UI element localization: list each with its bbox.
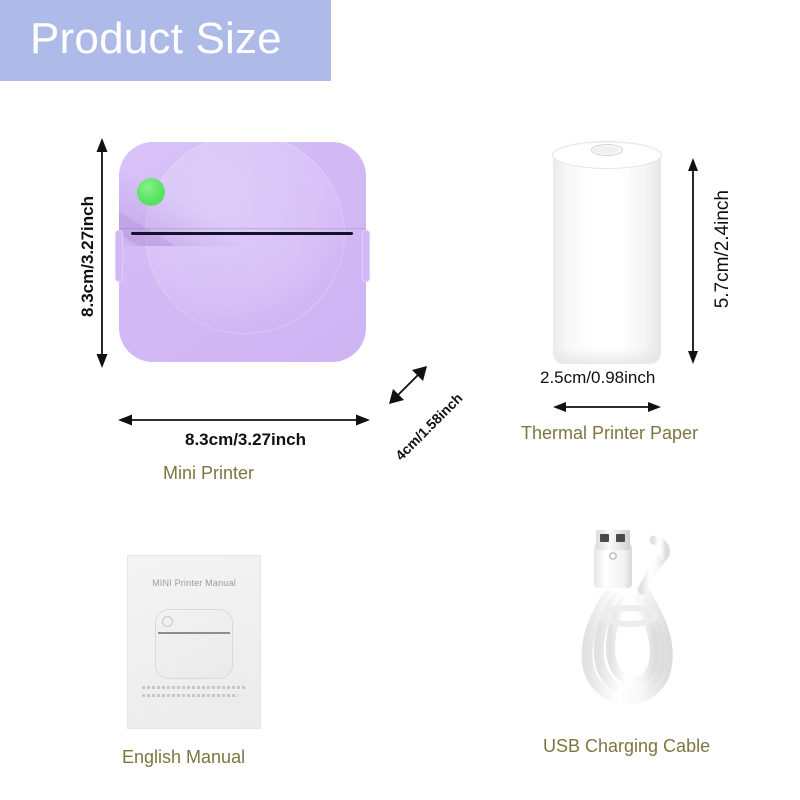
usb-cable-illustration — [556, 526, 706, 716]
printer-width-label: 8.3cm/3.27inch — [185, 430, 306, 450]
manual-text-line — [142, 694, 238, 697]
usb-contact-left — [600, 534, 609, 542]
usb-cable-drawing — [556, 526, 706, 716]
printer-height-label: 8.3cm/3.27inch — [78, 196, 98, 317]
printer-side-tab-left — [115, 230, 123, 282]
manual-printer-button-icon — [163, 617, 172, 626]
paper-roll-body — [553, 154, 661, 362]
usb-contact-right — [616, 534, 625, 542]
caption-english-manual: English Manual — [122, 747, 245, 768]
printer-width-arrow — [118, 410, 370, 430]
caption-thermal-printer-paper: Thermal Printer Paper — [521, 423, 698, 444]
usb-plug-housing — [594, 544, 632, 588]
page-title: Product Size — [30, 6, 282, 72]
paper-roll-bottom-shadow — [553, 348, 661, 364]
mini-printer-illustration — [119, 142, 366, 362]
manual-cover-title: MINI Printer Manual — [128, 578, 260, 588]
printer-power-button — [137, 178, 165, 206]
header-banner: Product Size — [0, 0, 331, 81]
printer-side-tab-right — [362, 230, 370, 282]
manual-printer-graphic — [156, 610, 232, 678]
paper-width-arrow — [553, 398, 661, 416]
printer-depth-arrow — [383, 360, 433, 410]
manual-body-text-block — [142, 686, 246, 702]
paper-height-arrow — [682, 158, 704, 364]
thermal-paper-illustration — [553, 142, 661, 364]
paper-roll-core-inner — [593, 146, 619, 154]
printer-lid-edge — [119, 228, 366, 229]
caption-usb-charging-cable: USB Charging Cable — [543, 736, 710, 757]
manual-printer-seam — [158, 632, 230, 634]
manual-text-line — [142, 686, 246, 689]
paper-height-label: 5.7cm/2.4inch — [712, 190, 734, 308]
english-manual-illustration: MINI Printer Manual — [128, 556, 260, 728]
cable-upper-strand — [642, 556, 664, 590]
cable-upper-bend — [654, 540, 666, 556]
printer-paper-slot-seam — [131, 232, 353, 235]
paper-width-label: 2.5cm/0.98inch — [540, 368, 655, 388]
product-size-infographic: Product Size 8.3cm/3.27inch 8.3cm/3.27in… — [0, 0, 800, 800]
caption-mini-printer: Mini Printer — [163, 463, 254, 484]
